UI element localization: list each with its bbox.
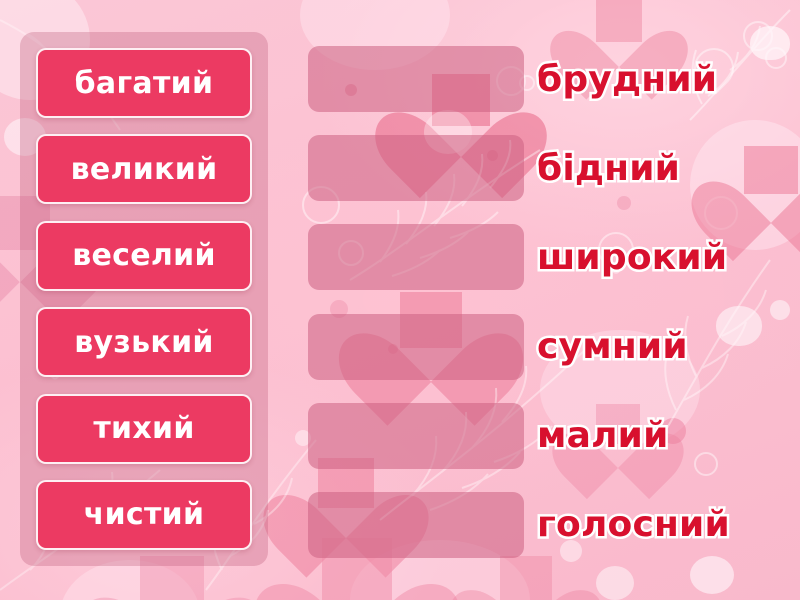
word-card[interactable]: веселий [36, 221, 252, 291]
answer-word-label: брудний [537, 59, 717, 100]
answer-word[interactable]: голосний [537, 492, 795, 558]
word-card-label: чистий [84, 497, 205, 532]
answer-word[interactable]: малий [537, 403, 795, 469]
word-card[interactable]: чистий [36, 480, 252, 550]
word-card[interactable]: багатий [36, 48, 252, 118]
word-cards-panel: багатий великий веселий вузький тихий чи… [20, 32, 268, 566]
answer-words-column: брудний бідний широкий сумний малий голо… [537, 46, 795, 558]
answer-word-label: бідний [537, 148, 680, 189]
decor-blob [60, 560, 200, 600]
drop-slot[interactable] [308, 224, 524, 290]
drop-slot[interactable] [308, 135, 524, 201]
answer-word-label: широкий [537, 237, 727, 278]
drop-slot[interactable] [308, 46, 524, 112]
answer-word-label: малий [537, 415, 669, 456]
answer-word[interactable]: сумний [537, 314, 795, 380]
word-card-label: вузький [74, 325, 213, 360]
activity-stage: багатий великий веселий вузький тихий чи… [0, 0, 800, 600]
word-card-label: великий [71, 152, 218, 187]
word-card-label: багатий [75, 66, 214, 101]
decor-blossom [596, 566, 634, 600]
answer-word[interactable]: широкий [537, 224, 795, 290]
word-card-label: веселий [72, 238, 216, 273]
drop-slot[interactable] [308, 403, 524, 469]
answer-word-label: голосний [537, 504, 730, 545]
drop-slots-column [308, 46, 524, 558]
decor-heart [500, 556, 552, 600]
word-card[interactable]: вузький [36, 307, 252, 377]
decor-heart [596, 0, 642, 42]
drop-slot[interactable] [308, 314, 524, 380]
answer-word-label: сумний [537, 326, 688, 367]
answer-word[interactable]: брудний [537, 46, 795, 112]
drop-slot[interactable] [308, 492, 524, 558]
word-card[interactable]: тихий [36, 394, 252, 464]
answer-word[interactable]: бідний [537, 135, 795, 201]
word-card[interactable]: великий [36, 134, 252, 204]
word-card-label: тихий [93, 411, 194, 446]
decor-blossom [690, 556, 734, 594]
